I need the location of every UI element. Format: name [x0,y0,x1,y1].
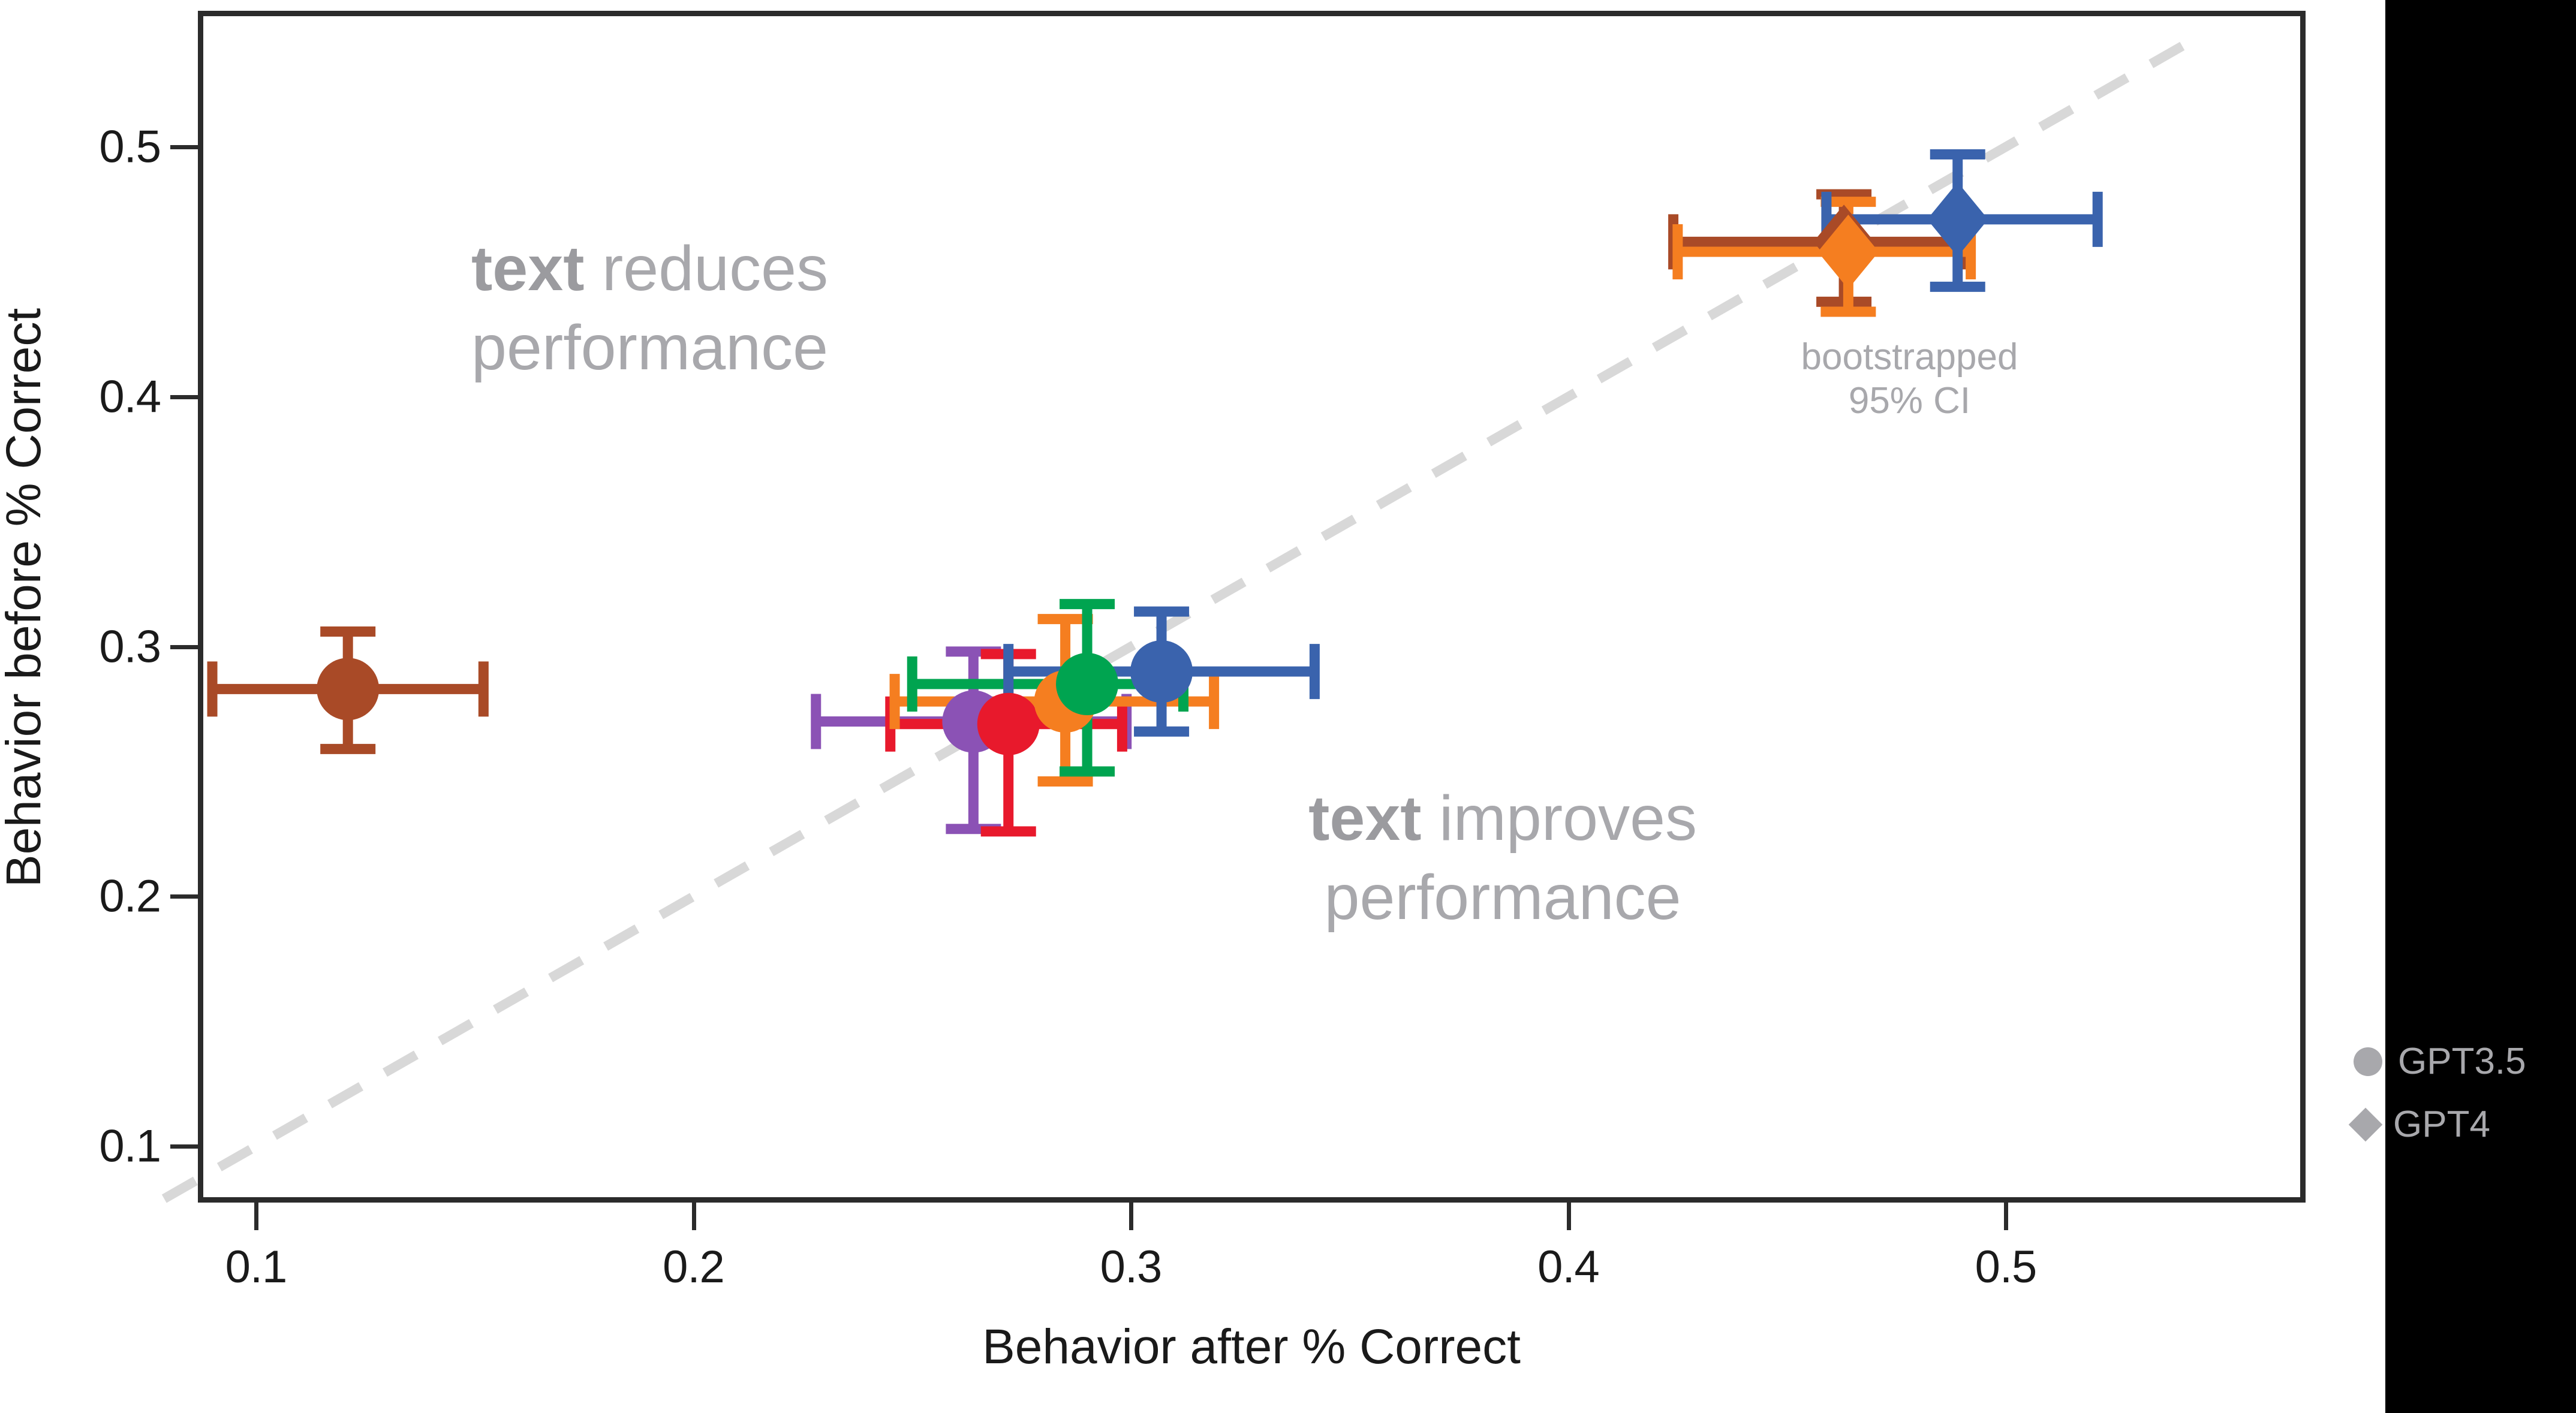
y-tick-label: 0.3 [99,620,161,673]
y-tick-mark [170,395,198,399]
legend-label: GPT4 [2393,1103,2490,1146]
x-tick-label: 0.5 [1975,1241,2037,1293]
ci-note-line1: bootstrapped [1801,335,2018,379]
plot-frame [198,11,2306,1203]
x-tick-mark [1567,1203,1571,1230]
x-axis-title: Behavior after % Correct [982,1319,1521,1375]
y-tick-label: 0.5 [99,121,161,173]
y-tick-label: 0.2 [99,870,161,923]
annotation-lower-rest: improves [1422,783,1697,854]
legend-diamond-icon [2349,1107,2383,1141]
y-tick-label: 0.1 [99,1120,161,1173]
x-tick-label: 0.3 [1100,1241,1162,1293]
y-tick-mark [170,894,198,899]
legend-label: GPT3.5 [2398,1040,2526,1083]
legend-item-gpt4[interactable]: GPT4 [2354,1103,2490,1146]
annotation-lower-line2: performance [1308,858,1697,938]
annotation-bootstrapped-ci: bootstrapped 95% CI [1801,335,2018,423]
chart-figure: 0.10.20.30.40.5 0.10.20.30.40.5 Behavior… [0,0,2385,1413]
annotation-lower-bold: text [1308,783,1422,854]
x-tick-label: 0.2 [663,1241,724,1293]
right-black-panel [2385,0,2576,1413]
annotation-text-reduces-performance: text reduces performance [471,229,828,388]
x-tick-label: 0.1 [225,1241,287,1293]
annotation-text-improves-performance: text improves performance [1308,779,1697,938]
y-axis-title: Behavior before % Correct [0,238,52,957]
y-tick-mark [170,645,198,649]
legend-circle-icon [2354,1047,2382,1076]
x-tick-mark [692,1203,696,1230]
annotation-upper-rest: reduces [585,233,829,304]
y-tick-label: 0.4 [99,370,161,423]
x-tick-mark [254,1203,258,1230]
y-tick-mark [170,145,198,149]
x-tick-mark [2004,1203,2008,1230]
annotation-upper-bold: text [471,233,585,304]
ci-note-line2: 95% CI [1801,379,2018,423]
x-tick-label: 0.4 [1537,1241,1599,1293]
legend-item-gpt3-5[interactable]: GPT3.5 [2354,1040,2526,1083]
x-tick-mark [1129,1203,1133,1230]
y-tick-mark [170,1144,198,1149]
annotation-upper-line2: performance [471,308,828,388]
